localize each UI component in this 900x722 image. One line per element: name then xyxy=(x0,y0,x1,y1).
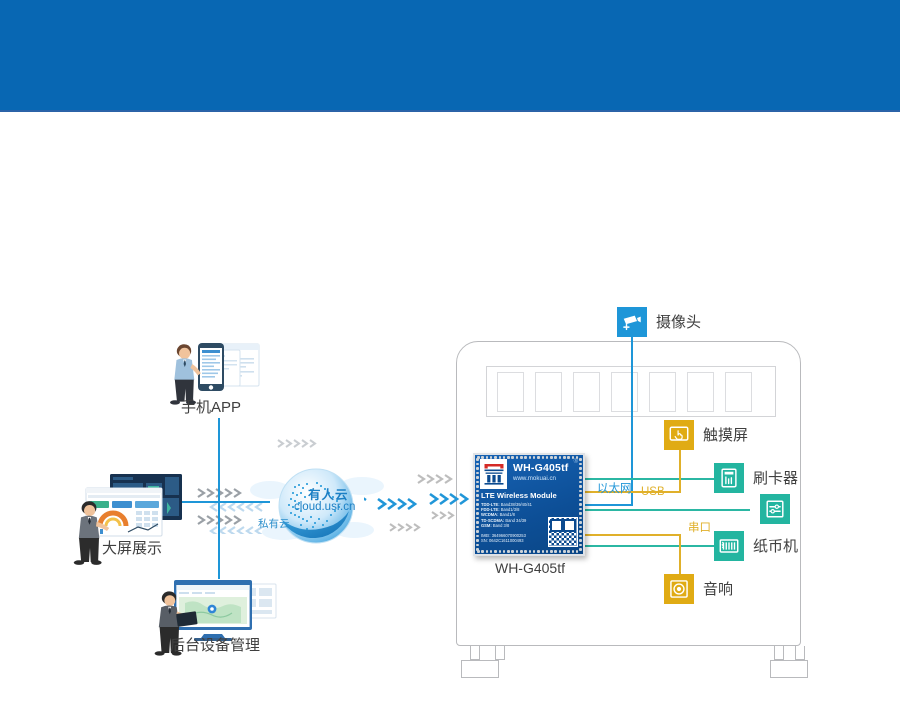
line-serial-gold-vertical xyxy=(679,534,681,574)
module-pad xyxy=(579,503,582,506)
kiosk-slot xyxy=(611,372,638,412)
kiosk-leg xyxy=(774,646,784,660)
module-pad xyxy=(511,550,514,553)
module-pad xyxy=(494,456,497,459)
line-ethernet-horizontal xyxy=(585,504,633,506)
module-pad xyxy=(486,550,489,553)
module-pad xyxy=(476,481,479,484)
module-pad xyxy=(579,521,582,524)
module-title: WH-G405tf xyxy=(513,462,568,474)
module-pad xyxy=(511,456,514,459)
module-pad xyxy=(546,550,549,553)
module-face: ® WH-G405tf www.mokuai.cn LTE Wireless M… xyxy=(475,455,583,554)
big-screen-label: 大屏展示 xyxy=(102,537,162,558)
module-pad xyxy=(529,456,532,459)
module-pad xyxy=(476,485,479,488)
module-pad xyxy=(579,463,582,466)
module-pad xyxy=(572,456,575,459)
module-pad xyxy=(481,456,484,459)
module-pad xyxy=(559,456,562,459)
mobile-app-label: 手机APP xyxy=(181,396,241,417)
sliders-icon[interactable] xyxy=(760,494,790,524)
banner-underline xyxy=(0,110,900,112)
module-pad xyxy=(579,490,582,493)
module-pad xyxy=(542,456,545,459)
module-url: www.mokuai.cn xyxy=(513,475,556,482)
module-pad xyxy=(476,472,479,475)
module-pad xyxy=(476,499,479,502)
module-pad xyxy=(579,526,582,529)
module-pad xyxy=(579,544,582,547)
registered-mark: ® xyxy=(574,459,578,465)
module-pad xyxy=(554,550,557,553)
module-subtitle: LTE Wireless Module xyxy=(481,491,557,500)
module-pad xyxy=(516,550,519,553)
module-pad xyxy=(476,539,479,542)
sn-row: SN: 0642C1611000493 xyxy=(481,538,526,543)
card-reader-icon[interactable] xyxy=(714,463,744,493)
kiosk-foot xyxy=(461,660,499,678)
module-pad xyxy=(524,550,527,553)
module-pad xyxy=(476,458,479,461)
module-pad xyxy=(579,517,582,520)
chevrons-top-group xyxy=(272,437,328,451)
kiosk-slot xyxy=(725,372,752,412)
module-pad xyxy=(579,508,582,511)
kiosk-leg xyxy=(795,646,805,660)
module-pad xyxy=(476,526,479,529)
module-pad xyxy=(533,550,536,553)
spec-row: GSM: Band 3/8 xyxy=(481,523,549,528)
diagram-canvas: 以太网 USB 串口 摄像头 触摸屏 刷卡器 xyxy=(0,0,900,722)
module-spec-list: TDD-LTE: Band38/39/40/41 FDD-LTE: Band1/… xyxy=(481,502,549,528)
line-backend-vertical xyxy=(218,501,220,579)
touchscreen-icon[interactable] xyxy=(664,420,694,450)
module-pad xyxy=(579,499,582,502)
module-pad xyxy=(476,535,479,538)
module-pad xyxy=(476,530,479,533)
private-cloud-label: 私有云 xyxy=(258,516,290,531)
module-pad xyxy=(579,476,582,479)
module-pad xyxy=(567,456,570,459)
lte-module-board: ® WH-G405tf www.mokuai.cn LTE Wireless M… xyxy=(473,453,585,556)
top-banner xyxy=(0,0,900,110)
module-pad xyxy=(529,550,532,553)
line-serial-gold-horizontal xyxy=(585,534,681,536)
module-pad xyxy=(516,456,519,459)
module-pad xyxy=(579,467,582,470)
speaker-icon[interactable] xyxy=(664,574,694,604)
module-pad xyxy=(579,485,582,488)
module-pad xyxy=(554,456,557,459)
module-pad xyxy=(520,456,523,459)
module-pad xyxy=(563,456,566,459)
cloud-url: cloud.usr.cn xyxy=(294,501,355,513)
touchscreen-label: 触摸屏 xyxy=(703,424,748,445)
module-pad xyxy=(579,530,582,533)
kiosk-leg xyxy=(470,646,480,660)
module-pad xyxy=(579,494,582,497)
module-pad xyxy=(476,467,479,470)
camera-icon[interactable] xyxy=(617,307,647,337)
bill-acceptor-icon[interactable] xyxy=(714,531,744,561)
module-pad xyxy=(579,458,582,461)
line-mobile-app xyxy=(218,418,220,502)
module-pad xyxy=(476,548,479,551)
cloud-text-block: 有人云 cloud.usr.cn xyxy=(258,462,376,550)
module-pad xyxy=(567,550,570,553)
module-pad xyxy=(476,463,479,466)
line-serial-controller xyxy=(585,509,750,511)
label-serial: 串口 xyxy=(688,519,711,535)
module-pad xyxy=(559,550,562,553)
module-pad xyxy=(579,512,582,515)
module-pad xyxy=(476,544,479,547)
module-id-list: IMEI: 364966070900253 SN: 0642C161100049… xyxy=(481,533,526,544)
module-pad xyxy=(476,476,479,479)
module-pad xyxy=(507,456,510,459)
backend-management-label: 后台设备管理 xyxy=(170,634,260,655)
line-usb-vertical xyxy=(679,450,681,493)
speaker-label: 音响 xyxy=(703,578,733,599)
module-pad xyxy=(537,456,540,459)
module-pad xyxy=(579,481,582,484)
module-pad xyxy=(503,550,506,553)
kiosk-slot xyxy=(687,372,714,412)
module-caption: WH-G405tf xyxy=(470,560,590,576)
module-pad xyxy=(550,456,553,459)
brand-logo xyxy=(480,459,507,489)
module-pad xyxy=(533,456,536,459)
module-pad xyxy=(476,494,479,497)
kiosk-slot xyxy=(535,372,562,412)
kiosk-slot xyxy=(497,372,524,412)
card-reader-label: 刷卡器 xyxy=(753,467,798,488)
module-pad xyxy=(542,550,545,553)
line-serial-bill-acceptor xyxy=(585,545,715,547)
module-pad xyxy=(579,548,582,551)
module-pad xyxy=(579,535,582,538)
bill-acceptor-label: 纸币机 xyxy=(753,535,798,556)
module-pad xyxy=(524,456,527,459)
module-pad xyxy=(490,550,493,553)
module-pad xyxy=(537,550,540,553)
module-pad xyxy=(507,550,510,553)
module-pad xyxy=(563,550,566,553)
module-pad xyxy=(494,550,497,553)
module-pad xyxy=(476,503,479,506)
module-pad xyxy=(476,512,479,515)
module-pad xyxy=(546,456,549,459)
label-ethernet: 以太网 xyxy=(597,480,632,496)
module-pad xyxy=(486,456,489,459)
label-usb: USB xyxy=(641,486,665,498)
module-pad xyxy=(520,550,523,553)
kiosk-slot xyxy=(573,372,600,412)
module-pad xyxy=(476,490,479,493)
qr-code xyxy=(548,517,578,547)
kiosk-slot xyxy=(649,372,676,412)
module-pad xyxy=(481,550,484,553)
module-pad xyxy=(476,521,479,524)
camera-label: 摄像头 xyxy=(656,311,701,332)
module-pad xyxy=(550,550,553,553)
module-pad xyxy=(476,517,479,520)
kiosk-leg xyxy=(495,646,505,660)
module-pad xyxy=(579,472,582,475)
module-pad xyxy=(572,550,575,553)
module-pad xyxy=(476,508,479,511)
module-pad xyxy=(499,550,502,553)
module-pad xyxy=(579,539,582,542)
module-pad xyxy=(499,456,502,459)
kiosk-foot xyxy=(770,660,808,678)
